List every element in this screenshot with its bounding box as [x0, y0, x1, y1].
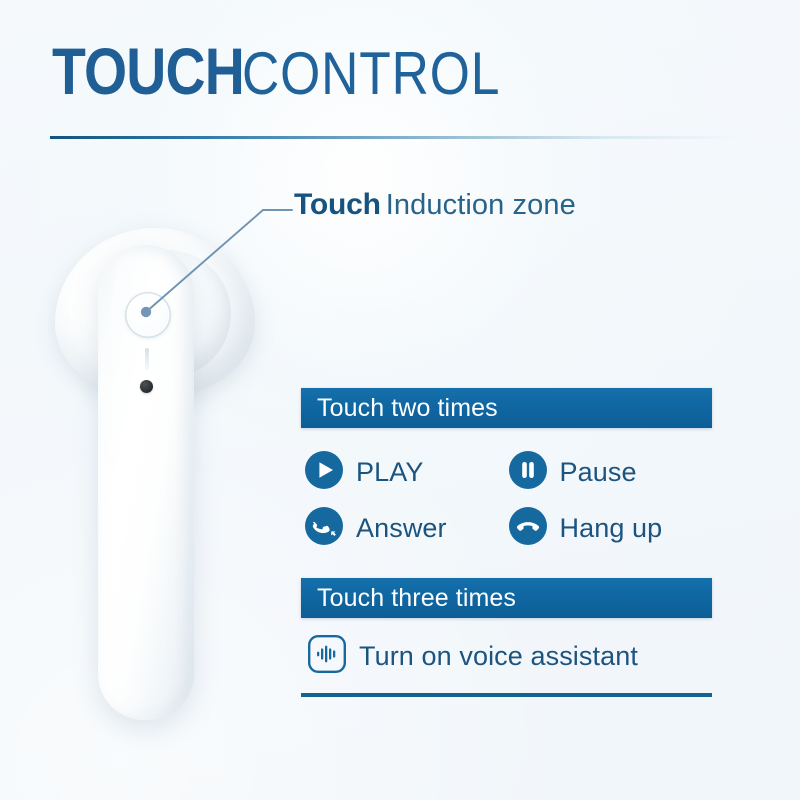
title-light-word: CONTROL — [242, 44, 500, 104]
earbud-illustration — [40, 215, 300, 735]
callout-label: TouchInduction zone — [294, 190, 576, 220]
callout-label-light: Induction zone — [386, 189, 576, 221]
touch-three-times-actions: Turn on voice assistant — [301, 618, 712, 679]
touch-two-times-actions: PLAY Pause — [301, 428, 712, 560]
touch-control-panel: Touch two times PLAY — [301, 388, 712, 697]
action-pause[interactable]: Pause — [509, 444, 713, 500]
action-hangup[interactable]: Hang up — [509, 500, 713, 556]
section-spacer — [301, 560, 712, 578]
action-answer[interactable]: Answer — [305, 500, 509, 556]
action-voice-assistant[interactable]: Turn on voice assistant — [307, 634, 638, 679]
page-title: TOUCHCONTROL — [52, 38, 543, 104]
section-header-label: Touch three times — [317, 584, 516, 613]
bottom-divider — [301, 693, 712, 697]
answer-icon — [305, 507, 343, 550]
action-voice-assistant-label: Turn on voice assistant — [359, 641, 638, 672]
action-hangup-label: Hang up — [560, 513, 663, 544]
infographic-page: TOUCHCONTROL TouchInduction zone Touch t… — [0, 0, 800, 800]
pause-icon — [509, 451, 547, 494]
action-play[interactable]: PLAY — [305, 444, 509, 500]
hangup-icon — [509, 507, 547, 550]
indicator-mark — [145, 348, 149, 370]
section-header-touch-three-times: Touch three times — [301, 578, 712, 618]
microphone-hole-icon — [140, 380, 153, 393]
action-pause-label: Pause — [560, 457, 637, 488]
action-play-label: PLAY — [356, 457, 423, 488]
section-header-label: Touch two times — [317, 394, 498, 423]
title-bold-word: TOUCH — [52, 38, 244, 104]
title-divider — [50, 136, 742, 139]
play-icon — [305, 451, 343, 494]
callout-label-bold: Touch — [294, 188, 381, 221]
touch-induction-zone-circle[interactable] — [125, 292, 171, 338]
action-answer-label: Answer — [356, 513, 447, 544]
section-header-touch-two-times: Touch two times — [301, 388, 712, 428]
voice-assistant-icon — [307, 634, 347, 679]
